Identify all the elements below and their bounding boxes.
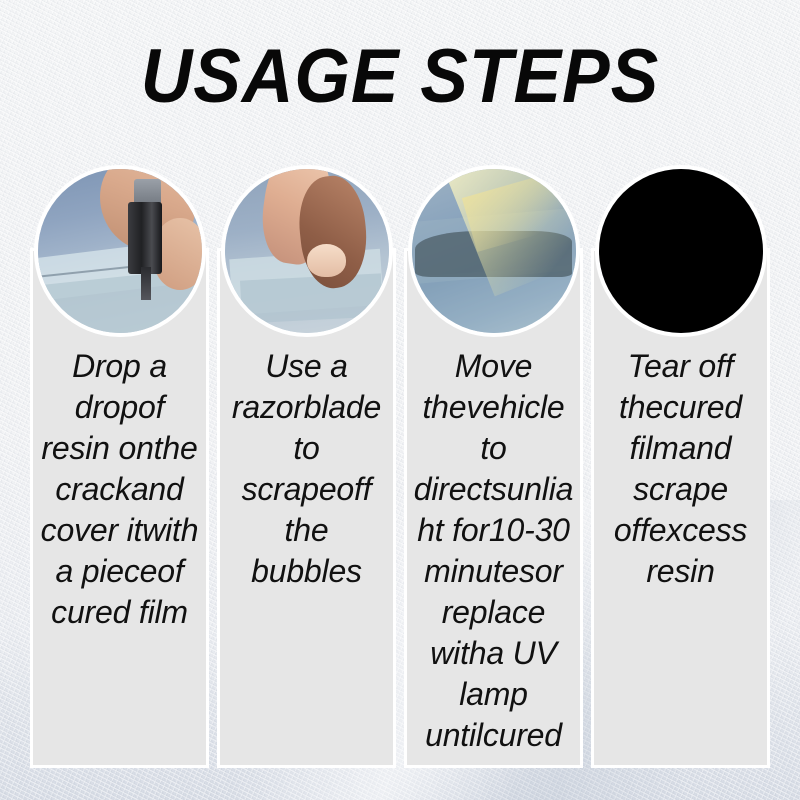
step-1-image xyxy=(38,169,202,333)
steps-row: Drop a dropof resin onthe crackand cover… xyxy=(30,248,770,768)
step-card-4: Tear off thecured filmand scrape offexce… xyxy=(591,248,770,768)
step-3-caption: Move thevehicle to directsunliaht for10-… xyxy=(407,346,580,766)
page-background: USAGE STEPS Drop a dropof resin onthe cr… xyxy=(0,0,800,800)
step-3-image xyxy=(412,169,576,333)
step-card-1: Drop a dropof resin onthe crackand cover… xyxy=(30,248,209,768)
step-card-3: Move thevehicle to directsunliaht for10-… xyxy=(404,248,583,768)
step-4-caption: Tear off thecured filmand scrape offexce… xyxy=(594,346,767,602)
step-card-2: Use a razorblade to scrapeoff the bubble… xyxy=(217,248,396,768)
step-2-image xyxy=(225,169,389,333)
step-2-caption: Use a razorblade to scrapeoff the bubble… xyxy=(220,346,393,602)
step-1-caption: Drop a dropof resin onthe crackand cover… xyxy=(33,346,206,643)
step-4-image xyxy=(599,169,763,333)
page-title: USAGE STEPS xyxy=(24,34,776,120)
